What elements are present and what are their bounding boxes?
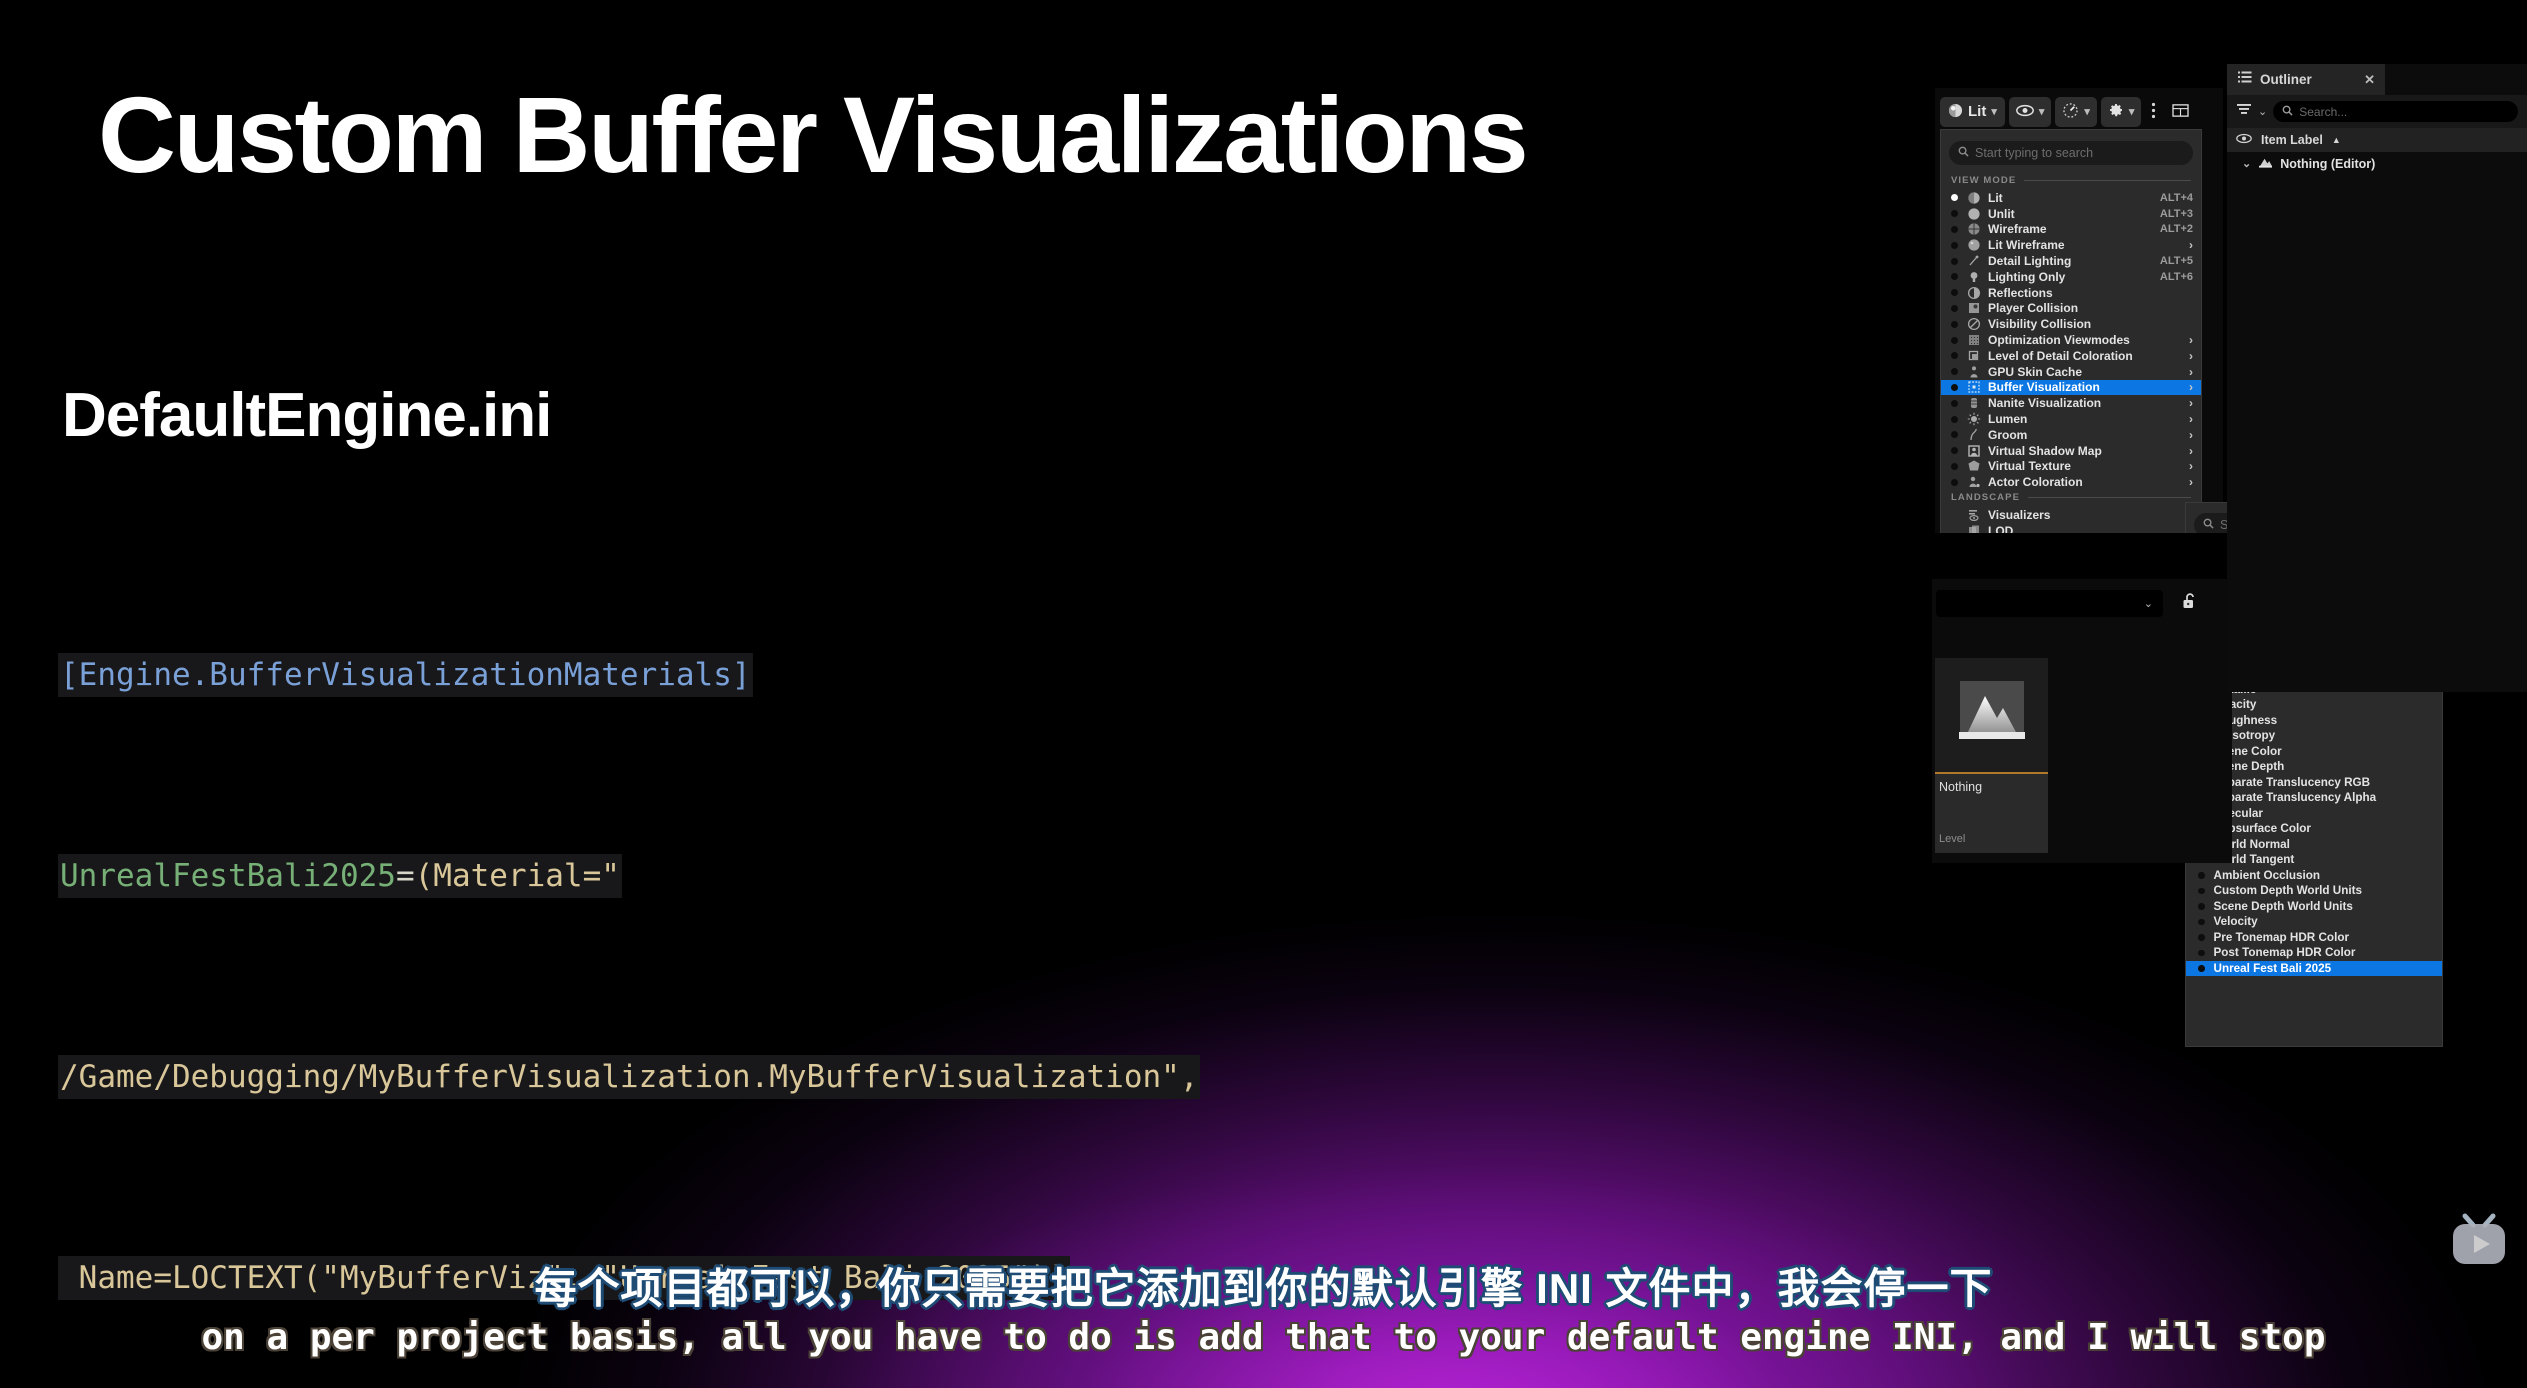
radio-icon [1951,400,1958,407]
level-thumbnail-icon [1955,676,2029,755]
view-mode-item-list: LitALT+4UnlitALT+3WireframeALT+2Lit Wire… [1941,190,2201,490]
view-mode-item-wireframe[interactable]: WireframeALT+2 [1941,222,2201,238]
buffer-viz-item-label: Unreal Fest Bali 2025 [2214,962,2332,975]
outliner-row-label: Nothing (Editor) [2280,157,2375,171]
sort-ascending-icon: ▲ [2332,135,2341,145]
radio-icon [1951,226,1958,233]
buffer-viz-item-label: Pre Tonemap HDR Color [2214,931,2350,944]
landscape-item-label: Visualizers [1988,508,2189,522]
view-mode-button[interactable]: Lit ▾ [1940,97,2005,127]
view-mode-item-player-collision[interactable]: Player Collision [1941,301,2201,317]
outliner-panel: Outliner ✕ ⌄ Search... [2227,64,2527,692]
chevron-right-icon: › [2189,428,2193,442]
chevron-right-icon: › [2189,412,2193,426]
buffer-viz-item-post-tonemap-hdr-color[interactable]: Post Tonemap HDR Color [2186,945,2442,961]
code-line-path: /Game/Debugging/MyBufferVisualization.My… [58,1055,1200,1099]
view-mode-item-detail-lighting[interactable]: Detail LightingALT+5 [1941,253,2201,269]
radio-icon [2198,872,2205,879]
chevron-right-icon: › [2189,475,2193,489]
actor-coloration-icon [1966,476,1982,489]
view-mode-item-label: Unlit [1988,207,2160,221]
radio-icon [1951,463,1958,470]
gear-icon [2108,102,2124,121]
unlit-sphere-icon [1966,207,1982,220]
chevron-right-icon: › [2189,238,2193,252]
code-line-key: UnrealFestBali2025 [60,858,396,894]
buffer-viz-item-scene-depth-world-units[interactable]: Scene Depth World Units [2186,899,2442,915]
outliner-toolbar: ⌄ Search... [2227,95,2527,128]
lit-sphere-icon [1948,103,1963,121]
virtual-shadow-map-icon [1966,444,1982,457]
chevron-down-icon: ▾ [2084,105,2090,118]
filter-icon[interactable] [2236,102,2252,121]
view-mode-item-label: Virtual Texture [1988,459,2189,473]
subtitle-chinese: 每个项目都可以，你只需要把它添加到你的默认引擎 INI 文件中，我会停一下 [0,1255,2527,1316]
search-icon [2203,518,2214,532]
view-mode-search-placeholder: Start typing to search [1975,146,2093,160]
unreal-editor-overlay: Lit ▾ ▾ ▾ ▾ [1935,88,2527,1288]
radio-icon [1951,194,1958,201]
view-mode-item-lumen[interactable]: Lumen› [1941,411,2201,427]
buffer-viz-item-label: Post Tonemap HDR Color [2214,946,2356,959]
view-mode-item-label: Virtual Shadow Map [1988,444,2189,458]
tab-outliner-label: Outliner [2260,72,2312,87]
page-title: Custom Buffer Visualizations [98,78,1526,191]
radio-icon [2198,934,2205,941]
virtual-texture-icon [1966,460,1982,473]
buffer-viz-item-custom-depth-world-units[interactable]: Custom Depth World Units [2186,883,2442,899]
radio-icon [1951,273,1958,280]
view-mode-item-buffer-visualization[interactable]: Buffer Visualization› [1941,380,2201,396]
content-browser-topbar [1932,533,2232,579]
radio-icon [1951,242,1958,249]
radio-icon [1951,368,1958,375]
asset-thumbnail [1935,658,2048,772]
view-mode-item-unlit[interactable]: UnlitALT+3 [1941,206,2201,222]
view-mode-item-label: Lit [1988,191,2160,205]
kebab-menu-icon [2151,102,2156,122]
view-mode-item-label: Player Collision [1988,301,2193,315]
buffer-viz-item-velocity[interactable]: Velocity [2186,914,2442,930]
chevron-down-icon: ▾ [2129,105,2135,118]
landscape-item-visualizers[interactable]: Visualizers› [1941,507,2201,523]
lod-coloration-icon [1966,349,1982,362]
landscape-section-header: LANDSCAPE [1941,490,2201,507]
view-mode-item-virtual-shadow-map[interactable]: Virtual Shadow Map› [1941,443,2201,459]
radio-icon [1951,416,1958,423]
view-mode-dropdown: Start typing to search VIEW MODE LitALT+… [1940,129,2202,574]
view-mode-item-shortcut: ALT+3 [2160,208,2193,220]
show-flags-button[interactable]: ▾ [2009,97,2052,127]
wireframe-sphere-icon [1966,223,1982,236]
close-icon[interactable]: ✕ [2364,72,2375,88]
radio-icon [1951,479,1958,486]
view-mode-item-label: Nanite Visualization [1988,396,2189,410]
speedometer-icon [2062,103,2079,121]
optimization-icon [1966,334,1982,347]
view-mode-item-label: Buffer Visualization [1988,380,2189,394]
view-mode-section-header: VIEW MODE [1941,173,2201,190]
reflections-icon [1966,286,1982,299]
lumen-icon [1966,413,1982,426]
chevron-right-icon: › [2189,380,2193,394]
view-mode-item-reflections[interactable]: Reflections [1941,285,2201,301]
tab-outliner[interactable]: Outliner ✕ [2227,64,2385,95]
groom-icon [1966,428,1982,441]
lock-toggle-button[interactable] [2178,591,2202,615]
view-mode-item-gpu-skin-cache[interactable]: GPU Skin Cache› [1941,364,2201,380]
view-mode-item-label: Lit Wireframe [1988,238,2189,252]
radio-icon [2198,919,2205,926]
lit-wireframe-icon [1966,239,1982,252]
file-heading: DefaultEngine.ini [62,380,551,451]
view-mode-item-label: Detail Lighting [1988,254,2160,268]
view-mode-item-groom[interactable]: Groom› [1941,427,2201,443]
content-browser-panel: ⌄ [1932,533,2232,863]
section-divider [2028,497,2191,498]
viewport-layout-button[interactable] [2166,97,2195,127]
search-icon [2282,105,2293,119]
performance-button[interactable]: ▾ [2055,97,2097,127]
detail-lighting-icon [1966,255,1982,268]
asset-type-label: Level [1939,833,1965,845]
outliner-row[interactable]: ⌄ Nothing (Editor) [2227,152,2527,175]
view-mode-item-label: Reflections [1988,286,2193,300]
subtitle-english: on a per project basis, all you have to … [0,1317,2527,1358]
buffer-viz-item-label: Velocity [2214,915,2258,928]
buffer-viz-item-unreal-fest-bali-2025[interactable]: Unreal Fest Bali 2025 [2186,961,2442,977]
chevron-right-icon: › [2189,365,2193,379]
radio-icon [2198,903,2205,910]
buffer-viz-item-label: Separate Translucency Alpha [2214,791,2377,804]
gpu-skin-cache-icon [1966,365,1982,378]
outliner-search-input[interactable]: Search... [2273,101,2518,122]
radio-icon [1951,431,1958,438]
view-mode-item-shortcut: ALT+2 [2160,223,2193,235]
chevron-right-icon: › [2189,396,2193,410]
asset-name-label: Nothing [1939,780,1982,794]
search-icon [1958,146,1969,160]
radio-icon [2198,888,2205,895]
radio-icon [1951,447,1958,454]
view-mode-item-visibility-collision[interactable]: Visibility Collision [1941,316,2201,332]
view-mode-item-label: Wireframe [1988,222,2160,236]
chevron-down-icon: ⌄ [2144,597,2153,610]
expander-icon[interactable]: ⌄ [2242,157,2251,170]
eye-icon [2016,104,2034,120]
radio-icon [1951,352,1958,359]
unlock-icon [2182,592,2198,615]
view-mode-item-shortcut: ALT+6 [2160,271,2193,283]
view-mode-item-optimization-viewmodes[interactable]: Optimization Viewmodes› [1941,332,2201,348]
buffer-viz-item-pre-tonemap-hdr-color[interactable]: Pre Tonemap HDR Color [2186,930,2442,946]
view-mode-item-shortcut: ALT+5 [2160,255,2193,267]
more-options-button[interactable] [2145,97,2162,127]
outliner-column-label: Item Label [2261,133,2323,147]
eye-icon [2236,133,2252,147]
view-mode-item-shortcut: ALT+4 [2160,192,2193,204]
visibility-collision-icon [1966,318,1982,331]
view-mode-item-lighting-only[interactable]: Lighting OnlyALT+6 [1941,269,2201,285]
buffer-viz-item-label: Ambient Occlusion [2214,869,2321,882]
buffer-viz-item-label: Separate Translucency RGB [2214,776,2371,789]
asset-tile[interactable]: Nothing Level [1935,658,2048,853]
view-mode-item-label: Lighting Only [1988,270,2160,284]
radio-icon [1951,337,1958,344]
lightbulb-icon [1966,270,1982,283]
radio-icon [1951,321,1958,328]
content-path-combo[interactable]: ⌄ [1936,590,2163,617]
code-line-equals: = [396,858,415,894]
radio-icon [1951,305,1958,312]
view-mode-label: Lit [1968,103,1986,120]
view-mode-item-lit[interactable]: LitALT+4 [1941,190,2201,206]
buffer-viz-item-ambient-occlusion[interactable]: Ambient Occlusion [2186,868,2442,884]
chevron-right-icon: › [2189,349,2193,363]
section-divider [2024,180,2191,181]
chevron-right-icon: › [2189,444,2193,458]
view-mode-item-label: Visibility Collision [1988,317,2193,331]
view-mode-item-label: Lumen [1988,412,2189,426]
radio-icon [1951,384,1958,391]
radio-icon [1951,289,1958,296]
view-mode-item-label: Actor Coloration [1988,475,2189,489]
code-snippet: [Engine.BufferVisualizationMaterials] Un… [58,508,1200,1379]
radio-icon [2198,950,2205,957]
chevron-down-icon: ▾ [2039,105,2045,118]
view-mode-item-label: Groom [1988,428,2189,442]
nanite-icon [1966,397,1982,410]
radio-icon [1951,512,1958,519]
view-mode-search-input[interactable]: Start typing to search [1949,141,2193,165]
chevron-down-icon[interactable]: ⌄ [2258,105,2267,118]
viewport-settings-button[interactable]: ▾ [2101,97,2142,127]
radio-icon [1951,210,1958,217]
grid-layout-icon [2172,103,2189,121]
asset-type-accent-bar [1935,772,2048,774]
outliner-icon [2237,70,2253,90]
level-icon [2258,156,2273,172]
chevron-right-icon: › [2189,459,2193,473]
view-mode-item-label: GPU Skin Cache [1988,365,2189,379]
bilibili-tv-play-icon [2447,1212,2511,1268]
view-mode-item-label: Optimization Viewmodes [1988,333,2189,347]
view-mode-item-virtual-texture[interactable]: Virtual Texture› [1941,459,2201,475]
lit-sphere-icon [1966,191,1982,204]
radio-icon [1951,258,1958,265]
outliner-column-header[interactable]: Item Label ▲ [2227,128,2527,152]
code-line-section: [Engine.BufferVisualizationMaterials] [58,653,753,697]
view-mode-item-level-of-detail-coloration[interactable]: Level of Detail Coloration› [1941,348,2201,364]
view-mode-item-nanite-visualization[interactable]: Nanite Visualization› [1941,395,2201,411]
buffer-visualization-icon [1966,381,1982,394]
chevron-down-icon: ▾ [1991,105,1997,118]
player-collision-icon [1966,302,1982,315]
visualizers-icon [1966,509,1982,522]
code-line-material: (Material=" [415,858,620,894]
chevron-right-icon: › [2189,333,2193,347]
viewport-toolbar: Lit ▾ ▾ ▾ ▾ [1940,94,2195,129]
view-mode-item-label: Level of Detail Coloration [1988,349,2189,363]
buffer-viz-item-label: Scene Depth World Units [2214,900,2353,913]
radio-icon [2198,965,2205,972]
buffer-viz-item-label: Custom Depth World Units [2214,884,2362,897]
view-mode-item-actor-coloration[interactable]: Actor Coloration› [1941,474,2201,490]
outliner-search-placeholder: Search... [2299,105,2347,119]
view-mode-item-lit-wireframe[interactable]: Lit Wireframe› [1941,237,2201,253]
